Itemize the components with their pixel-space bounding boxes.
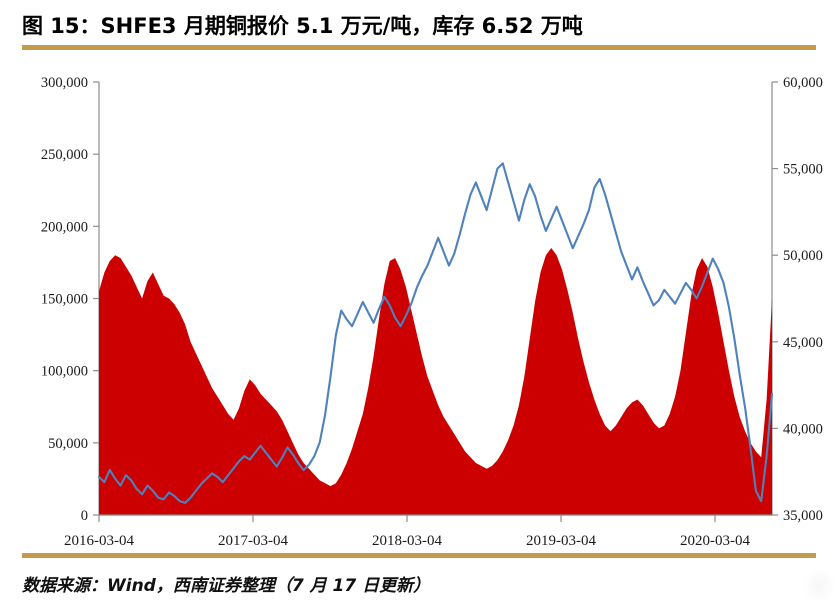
left-axis-tick-label: 300,000 <box>41 75 88 91</box>
left-axis-tick-label: 100,000 <box>41 364 88 380</box>
x-axis-tick-label: 2019-03-04 <box>526 533 596 548</box>
left-axis-tick-label: 200,000 <box>41 219 88 235</box>
x-axis-tick-label: 2020-03-04 <box>680 533 750 548</box>
x-axis-tick-label: 2018-03-04 <box>372 533 442 548</box>
left-axis-tick-label: 0 <box>81 508 88 524</box>
source-note: 数据来源：Wind，西南证券整理（7 月 17 日更新） <box>22 571 430 596</box>
left-axis-ticks: 050,000100,000150,000200,000250,000300,0… <box>41 75 99 524</box>
figure-page: 图 15：SHFE3 月期铜报价 5.1 万元/吨，库存 6.52 万吨 050… <box>0 0 838 605</box>
page-title: 图 15：SHFE3 月期铜报价 5.1 万元/吨，库存 6.52 万吨 <box>22 10 583 40</box>
x-axis-tick-label: 2017-03-04 <box>218 533 288 548</box>
x-axis-tick-label: 2016-03-04 <box>64 533 134 548</box>
left-axis-tick-label: 250,000 <box>41 147 88 163</box>
right-axis-ticks: 35,00040,00045,00050,00055,00060,000 <box>772 75 823 524</box>
right-axis-tick-label: 45,000 <box>783 335 823 351</box>
figure-footer: 数据来源：Wind，西南证券整理（7 月 17 日更新） <box>22 566 816 600</box>
right-axis-tick-label: 40,000 <box>783 421 823 437</box>
page-watermark <box>802 569 836 603</box>
right-axis-tick-label: 60,000 <box>783 75 823 91</box>
figure-title-container: 图 15：SHFE3 月期铜报价 5.1 万元/吨，库存 6.52 万吨 <box>22 6 816 44</box>
x-axis-ticks: 2016-03-042017-03-042018-03-042019-03-04… <box>64 515 751 548</box>
title-divider-rule <box>22 45 816 50</box>
left-axis-tick-label: 50,000 <box>48 436 88 452</box>
right-axis-tick-label: 55,000 <box>783 162 823 178</box>
left-axis-tick-label: 150,000 <box>41 292 88 308</box>
right-axis-tick-label: 35,000 <box>783 508 823 524</box>
right-axis-tick-label: 50,000 <box>783 248 823 264</box>
chart-container: 050,000100,000150,000200,000250,000300,0… <box>0 58 838 548</box>
copper-inventory-price-chart: 050,000100,000150,000200,000250,000300,0… <box>0 58 838 548</box>
footer-divider-rule <box>22 553 816 558</box>
